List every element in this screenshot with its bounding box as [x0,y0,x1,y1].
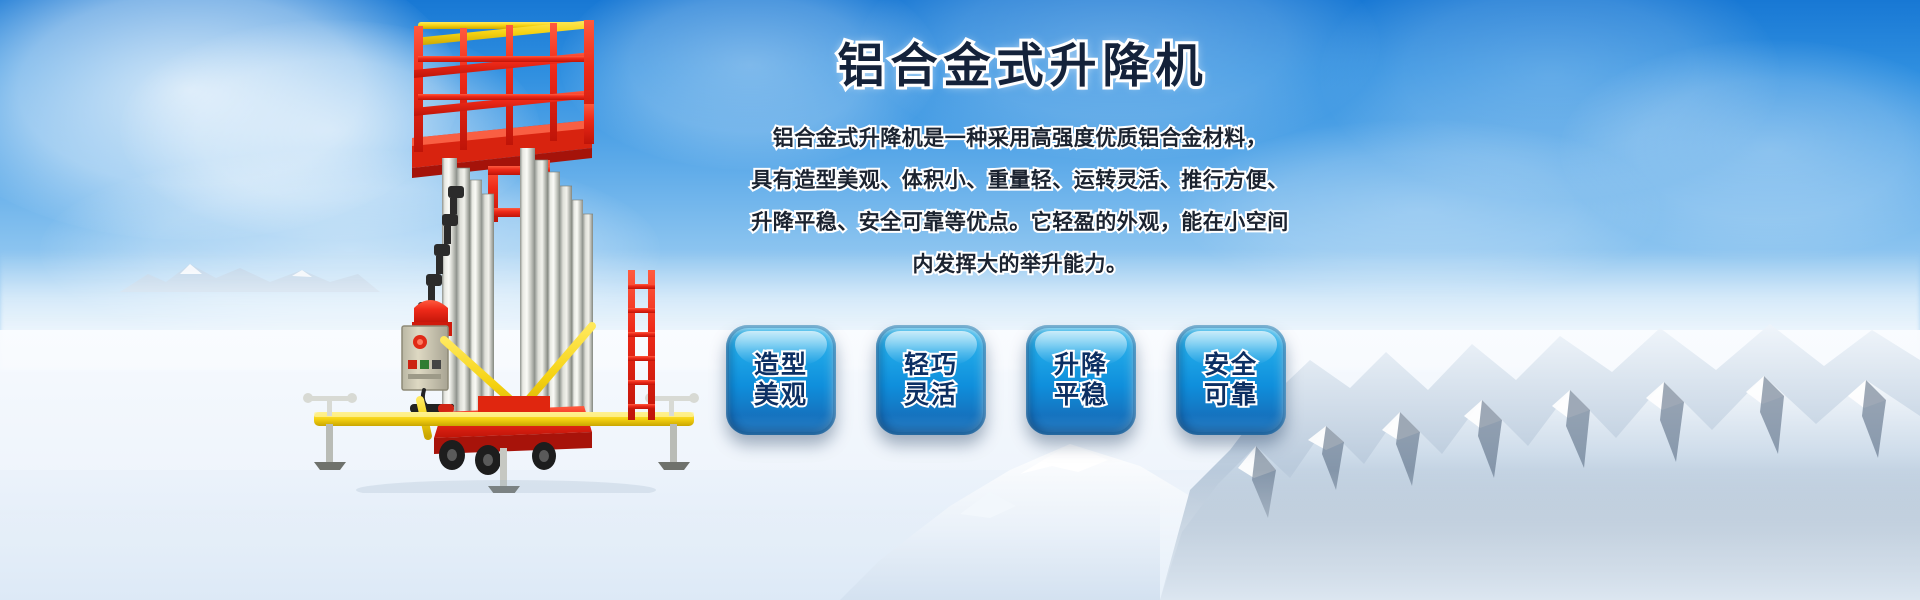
telescoping-mast-column [442,148,593,420]
feature-badge-safety[interactable]: 安全 可靠 [1176,325,1286,435]
description-line: 升降平稳、安全可靠等优点。它轻盈的外观，能在小空间 [720,202,1320,244]
feature-badge-line1: 升降 [1054,350,1108,380]
outrigger-beam [314,412,694,426]
cage-right-panel [584,20,594,144]
feature-badge-line1: 造型 [754,350,808,380]
feature-badge-line2: 可靠 [1204,380,1258,410]
cloud-shape [1320,0,1780,200]
aluminium-lift-machine-illustration [292,8,712,493]
feature-badge-line2: 平稳 [1054,380,1108,410]
feature-badge-smooth-lift[interactable]: 升降 平稳 [1026,325,1136,435]
feature-badge-line1: 轻巧 [904,350,958,380]
feature-badge-line2: 灵活 [904,380,958,410]
page-title: 铝合金式升降机 [720,40,1320,92]
cloud-shape [1560,40,1920,260]
product-banner: 铝合金式升降机 铝合金式升降机是一种采用高强度优质铝合金材料， 具有造型美观、体… [0,0,1920,600]
feature-badge-group: 造型 美观 轻巧 灵活 升降 平稳 安全 可靠 [726,325,1286,435]
description-line: 铝合金式升降机是一种采用高强度优质铝合金材料， [720,118,1320,160]
ground-shadow [356,480,656,493]
feature-badge-appearance[interactable]: 造型 美观 [726,325,836,435]
feature-badge-lightweight[interactable]: 轻巧 灵活 [876,325,986,435]
description-line: 内发挥大的举升能力。 [720,244,1320,286]
feature-badge-line2: 美观 [754,380,808,410]
banner-copy: 铝合金式升降机 铝合金式升降机是一种采用高强度优质铝合金材料， 具有造型美观、体… [720,40,1320,286]
feature-badge-line1: 安全 [1204,350,1258,380]
description-line: 具有造型美观、体积小、重量轻、运转灵活、推行方便、 [720,160,1320,202]
product-description: 铝合金式升降机是一种采用高强度优质铝合金材料， 具有造型美观、体积小、重量轻、运… [720,118,1320,286]
cage-mid-rails [414,52,592,116]
side-ladder [628,270,655,420]
